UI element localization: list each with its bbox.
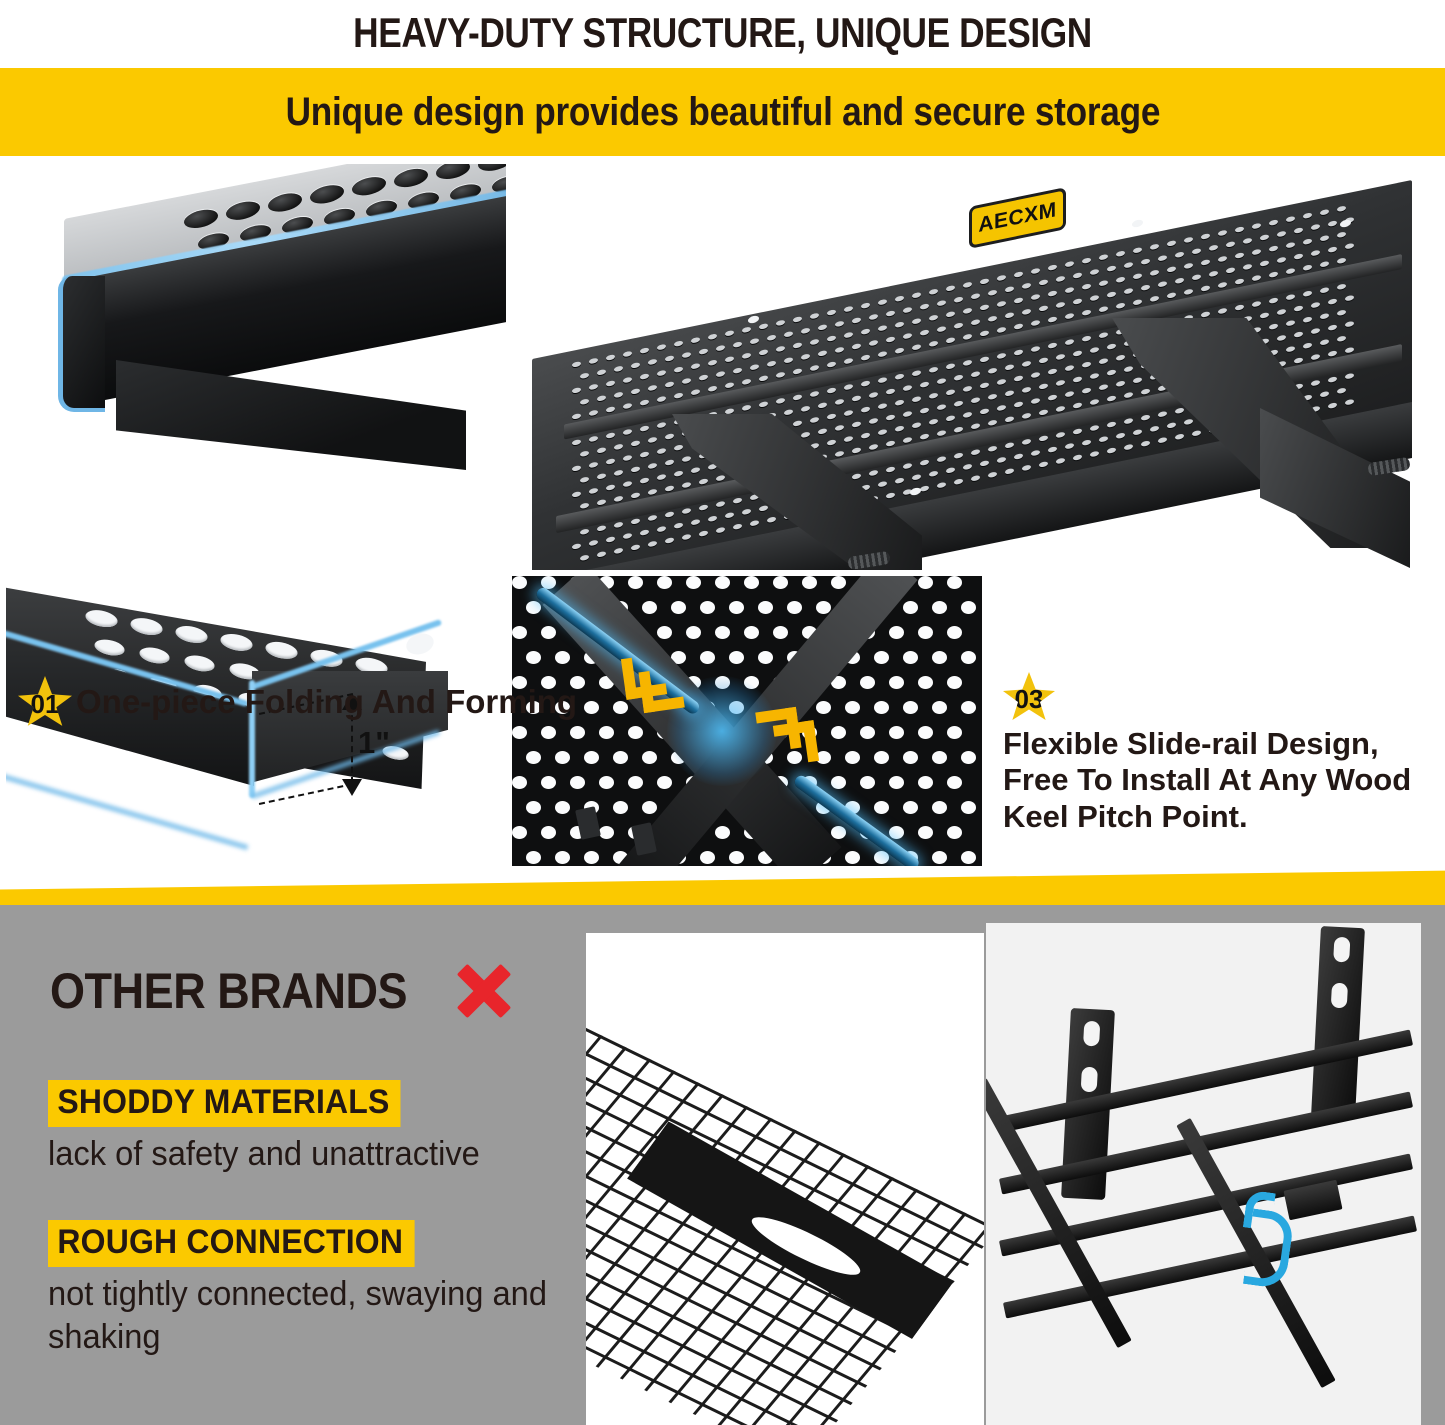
texture-dot xyxy=(903,463,912,470)
texture-dot xyxy=(665,537,674,544)
texture-dot xyxy=(1294,227,1303,234)
texture-dot xyxy=(526,801,541,814)
texture-dot xyxy=(1099,306,1108,313)
feature-callout-03: 03 Flexible Slide-rail Design, Free To I… xyxy=(1003,672,1445,835)
texture-dot xyxy=(640,477,649,484)
texture-dot xyxy=(947,826,962,839)
texture-dot xyxy=(1345,373,1354,380)
texture-dot xyxy=(1107,291,1116,298)
texture-dot xyxy=(1337,257,1346,264)
texture-dot xyxy=(845,851,860,864)
texture-dot xyxy=(759,349,768,356)
texture-dot xyxy=(767,516,776,523)
texture-dot xyxy=(861,432,870,439)
texture-dot xyxy=(1005,390,1014,397)
texture-dot xyxy=(954,400,963,407)
texture-dot xyxy=(1192,248,1201,255)
bracket-hole xyxy=(1083,1021,1100,1047)
texture-dot xyxy=(758,651,773,664)
texture-dot xyxy=(674,470,683,477)
texture-dot xyxy=(597,395,606,402)
comparison-section: OTHER BRANDS SHODDY MATERIALS lack of sa… xyxy=(0,905,1445,1425)
texture-dot xyxy=(852,395,861,402)
texture-dot xyxy=(971,475,980,482)
texture-dot xyxy=(1065,313,1074,320)
texture-dot xyxy=(1311,354,1320,361)
texture-dot xyxy=(997,456,1006,463)
texture-dot xyxy=(1014,453,1023,460)
texture-dot xyxy=(1031,346,1040,353)
texture-dot xyxy=(1320,287,1329,294)
texture-dot xyxy=(606,536,615,543)
texture-dot xyxy=(572,361,581,368)
texture-dot xyxy=(665,355,674,362)
texture-dot xyxy=(691,389,700,396)
texture-dot xyxy=(801,327,810,334)
texture-dot xyxy=(903,385,912,392)
texture-dot xyxy=(1345,347,1354,354)
texture-dot xyxy=(584,701,599,714)
texture-dot xyxy=(852,343,861,350)
texture-dot xyxy=(1056,379,1065,386)
texture-dot xyxy=(1056,275,1065,282)
texture-dot xyxy=(1243,263,1252,270)
texture-dot xyxy=(1005,416,1014,423)
texture-dot xyxy=(759,375,768,382)
texture-dot xyxy=(526,751,541,764)
texture-dot xyxy=(1184,262,1193,269)
texture-dot xyxy=(628,776,643,789)
texture-dot xyxy=(827,309,836,316)
rail-bolt-icon xyxy=(708,708,744,748)
texture-dot xyxy=(640,451,649,458)
texture-dot xyxy=(1150,243,1159,250)
texture-dot xyxy=(665,433,674,440)
texture-dot xyxy=(860,776,875,789)
texture-dot xyxy=(512,826,527,839)
texture-dot xyxy=(94,637,125,657)
rack-bracket-right xyxy=(1311,926,1365,1118)
texture-dot xyxy=(946,337,955,344)
texture-dot xyxy=(869,470,878,477)
texture-dot xyxy=(729,651,744,664)
texture-dot xyxy=(932,651,947,664)
texture-dot xyxy=(674,392,683,399)
texture-dot xyxy=(961,801,976,814)
texture-dot xyxy=(971,319,980,326)
texture-dot xyxy=(1311,380,1320,387)
texture-dot xyxy=(1133,299,1142,306)
texture-dot xyxy=(801,353,810,360)
texture-dot xyxy=(1260,234,1269,241)
texture-dot xyxy=(835,320,844,327)
texture-dot xyxy=(1022,438,1031,445)
texture-dot xyxy=(682,378,691,385)
texture-dot xyxy=(1116,302,1125,309)
con-description: lack of safety and unattractive xyxy=(48,1133,547,1176)
texture-dot xyxy=(1039,435,1048,442)
texture-dot xyxy=(184,207,218,231)
texture-dot xyxy=(961,601,976,614)
texture-dot xyxy=(852,421,861,428)
texture-dot xyxy=(1133,247,1142,254)
texture-dot xyxy=(1150,269,1159,276)
texture-dot xyxy=(1090,451,1099,458)
texture-dot xyxy=(886,414,895,421)
texture-dot xyxy=(613,701,628,714)
texture-dot xyxy=(657,474,666,481)
photo-frame-rack xyxy=(986,923,1421,1425)
texture-dot xyxy=(1014,349,1023,356)
texture-dot xyxy=(628,576,643,589)
texture-dot xyxy=(1031,398,1040,405)
edge-glow-bottom-left xyxy=(6,772,248,850)
texture-dot xyxy=(631,388,640,395)
texture-dot xyxy=(1141,284,1150,291)
texture-dot xyxy=(1167,266,1176,273)
texture-dot xyxy=(1065,261,1074,268)
texture-dot xyxy=(682,508,691,515)
texture-dot xyxy=(963,385,972,392)
texture-dot xyxy=(1124,288,1133,295)
texture-dot xyxy=(988,445,997,452)
texture-dot xyxy=(665,511,674,518)
texture-dot xyxy=(1039,461,1048,468)
texture-dot xyxy=(1116,380,1125,387)
texture-dot xyxy=(1158,255,1167,262)
texture-dot xyxy=(869,340,878,347)
texture-dot xyxy=(1345,295,1354,302)
texture-dot xyxy=(742,508,751,515)
texture-dot xyxy=(1209,270,1218,277)
texture-dot xyxy=(1158,411,1167,418)
texture-dot xyxy=(810,391,819,398)
texture-dot xyxy=(657,422,666,429)
texture-dot xyxy=(599,776,614,789)
texture-dot xyxy=(963,359,972,366)
texture-dot xyxy=(810,339,819,346)
texture-dot xyxy=(946,389,955,396)
texture-dot xyxy=(1005,468,1014,475)
texture-dot xyxy=(665,381,674,388)
texture-dot xyxy=(1048,290,1057,297)
texture-dot xyxy=(1014,401,1023,408)
texture-dot xyxy=(1056,457,1065,464)
texture-dot xyxy=(597,473,606,480)
texture-dot xyxy=(733,341,742,348)
texture-dot xyxy=(1022,412,1031,419)
texture-dot xyxy=(1201,285,1210,292)
texture-dot xyxy=(932,701,947,714)
texture-dot xyxy=(1133,273,1142,280)
texture-dot xyxy=(1328,402,1337,409)
texture-dot xyxy=(580,450,589,457)
texture-dot xyxy=(920,381,929,388)
texture-dot xyxy=(1201,311,1210,318)
texture-dot xyxy=(903,333,912,340)
texture-dot xyxy=(526,651,541,664)
texture-dot xyxy=(597,551,606,558)
texture-dot xyxy=(929,392,938,399)
texture-dot xyxy=(1090,425,1099,432)
texture-dot xyxy=(869,418,878,425)
texture-dot xyxy=(1286,268,1295,275)
texture-dot xyxy=(886,492,895,499)
texture-dot xyxy=(1005,442,1014,449)
texture-dot xyxy=(827,413,836,420)
texture-dot xyxy=(1167,240,1176,247)
texture-dot xyxy=(648,359,657,366)
texture-dot xyxy=(784,357,793,364)
texture-dot xyxy=(1243,237,1252,244)
texture-dot xyxy=(912,474,921,481)
texture-dot xyxy=(869,314,878,321)
texture-dot xyxy=(1073,272,1082,279)
texture-dot xyxy=(767,334,776,341)
texture-dot xyxy=(1303,264,1312,271)
folded-channel-end xyxy=(58,276,105,412)
texture-dot xyxy=(831,776,846,789)
texture-dot xyxy=(1311,224,1320,231)
texture-dot xyxy=(920,303,929,310)
texture-dot xyxy=(665,459,674,466)
page-title: HEAVY-DUTY STRUCTURE, UNIQUE DESIGN xyxy=(116,0,1330,66)
texture-dot xyxy=(903,801,918,814)
texture-dot xyxy=(614,495,623,502)
texture-dot xyxy=(844,332,853,339)
texture-dot xyxy=(961,851,976,864)
texture-dot xyxy=(1167,422,1176,429)
texture-dot xyxy=(691,519,700,526)
texture-dot xyxy=(980,408,989,415)
photo-one-piece-folding xyxy=(6,164,506,514)
texture-dot xyxy=(729,851,744,864)
texture-dot xyxy=(599,726,614,739)
texture-dot xyxy=(580,502,589,509)
texture-dot xyxy=(802,576,817,589)
dimension-label: 1" xyxy=(358,725,390,761)
texture-dot xyxy=(139,645,170,665)
texture-dot xyxy=(776,371,785,378)
texture-dot xyxy=(918,726,933,739)
texture-dot xyxy=(512,626,527,639)
texture-dot xyxy=(725,356,734,363)
texture-dot xyxy=(606,432,615,439)
texture-dot xyxy=(1269,297,1278,304)
texture-dot xyxy=(810,313,819,320)
texture-dot xyxy=(1260,312,1269,319)
texture-dot xyxy=(657,776,672,789)
texture-dot xyxy=(640,373,649,380)
texture-dot xyxy=(1175,251,1184,258)
texture-dot xyxy=(1039,357,1048,364)
texture-dot xyxy=(937,326,946,333)
texture-dot xyxy=(937,482,946,489)
texture-dot xyxy=(1056,301,1065,308)
texture-dot xyxy=(844,358,853,365)
texture-dot xyxy=(1328,246,1337,253)
texture-dot xyxy=(1022,308,1031,315)
texture-dot xyxy=(988,471,997,478)
texture-dot xyxy=(436,164,470,182)
texture-dot xyxy=(725,408,734,415)
texture-dot xyxy=(963,281,972,288)
texture-dot xyxy=(1269,245,1278,252)
texture-dot xyxy=(640,529,649,536)
photo-main-product: AECXM xyxy=(512,158,1445,570)
texture-dot xyxy=(733,523,742,530)
texture-dot xyxy=(835,450,844,457)
texture-dot xyxy=(642,751,657,764)
texture-dot xyxy=(1175,407,1184,414)
texture-dot xyxy=(1235,278,1244,285)
texture-dot xyxy=(1133,429,1142,436)
texture-dot xyxy=(947,726,962,739)
texture-dot xyxy=(1303,212,1312,219)
texture-dot xyxy=(946,285,955,292)
texture-dot xyxy=(912,370,921,377)
texture-dot xyxy=(572,543,581,550)
texture-dot xyxy=(963,307,972,314)
texture-dot xyxy=(674,444,683,451)
texture-dot xyxy=(1192,430,1201,437)
texture-dot xyxy=(861,302,870,309)
texture-dot xyxy=(220,632,253,654)
texture-dot xyxy=(776,345,785,352)
texture-dot xyxy=(831,576,846,589)
texture-dot xyxy=(648,437,657,444)
texture-dot xyxy=(997,404,1006,411)
texture-dot xyxy=(932,751,947,764)
texture-dot xyxy=(597,525,606,532)
texture-dot xyxy=(268,191,302,215)
texture-dot xyxy=(744,626,759,639)
texture-dot xyxy=(918,676,933,689)
texture-dot xyxy=(1328,220,1337,227)
texture-dot xyxy=(265,640,298,662)
texture-dot xyxy=(1320,261,1329,268)
texture-dot xyxy=(744,576,759,589)
texture-dot xyxy=(606,406,615,413)
texture-dot xyxy=(742,326,751,333)
texture-dot xyxy=(555,751,570,764)
texture-dot xyxy=(946,363,955,370)
texture-dot xyxy=(889,726,904,739)
feature-callout-01: 01 One-piece Folding And Forming xyxy=(18,676,577,728)
texture-dot xyxy=(988,289,997,296)
texture-dot xyxy=(1294,305,1303,312)
texture-dot xyxy=(613,751,628,764)
texture-dot xyxy=(1320,209,1329,216)
texture-dot xyxy=(932,601,947,614)
texture-dot xyxy=(1184,236,1193,243)
texture-dot xyxy=(980,330,989,337)
dimension-arrow-down-icon xyxy=(342,779,362,796)
texture-dot xyxy=(394,166,428,190)
texture-dot xyxy=(874,651,889,664)
texture-dot xyxy=(946,415,955,422)
texture-dot xyxy=(767,360,776,367)
texture-dot xyxy=(920,485,929,492)
texture-dot xyxy=(1328,376,1337,383)
texture-dot xyxy=(1073,402,1082,409)
texture-dot xyxy=(980,356,989,363)
texture-dot xyxy=(1337,387,1346,394)
texture-dot xyxy=(614,547,623,554)
texture-dot xyxy=(929,470,938,477)
texture-dot xyxy=(352,174,386,198)
texture-dot xyxy=(642,801,657,814)
con-headline: ROUGH CONNECTION xyxy=(48,1220,414,1267)
texture-dot xyxy=(648,489,657,496)
texture-dot xyxy=(818,428,827,435)
texture-dot xyxy=(886,310,895,317)
texture-dot xyxy=(682,482,691,489)
texture-dot xyxy=(1031,268,1040,275)
texture-dot xyxy=(589,488,598,495)
texture-dot xyxy=(1260,260,1269,267)
texture-dot xyxy=(584,751,599,764)
texture-dot xyxy=(889,626,904,639)
texture-dot xyxy=(903,307,912,314)
texture-dot xyxy=(886,466,895,473)
con-item-2: ROUGH CONNECTION not tightly connected, … xyxy=(48,1220,578,1358)
texture-dot xyxy=(932,851,947,864)
feature-label: One-piece Folding And Forming xyxy=(76,683,577,721)
texture-dot xyxy=(895,399,904,406)
texture-dot xyxy=(1286,346,1295,353)
texture-dot xyxy=(920,459,929,466)
texture-dot xyxy=(715,826,730,839)
texture-dot xyxy=(1065,287,1074,294)
texture-dot xyxy=(861,380,870,387)
texture-dot xyxy=(716,501,725,508)
texture-dot xyxy=(852,473,861,480)
texture-dot xyxy=(980,278,989,285)
texture-dot xyxy=(929,366,938,373)
product-infographic: HEAVY-DUTY STRUCTURE, UNIQUE DESIGN Uniq… xyxy=(0,0,1445,1425)
texture-dot xyxy=(793,368,802,375)
texture-dot xyxy=(1048,342,1057,349)
texture-dot xyxy=(816,601,831,614)
texture-dot xyxy=(1048,394,1057,401)
texture-dot xyxy=(512,776,527,789)
texture-dot xyxy=(699,348,708,355)
texture-dot xyxy=(631,440,640,447)
texture-dot xyxy=(1277,231,1286,238)
texture-dot xyxy=(1337,283,1346,290)
texture-dot xyxy=(1286,242,1295,249)
texture-dot xyxy=(878,403,887,410)
texture-dot xyxy=(555,801,570,814)
texture-dot xyxy=(580,398,589,405)
bracket-hole xyxy=(1333,937,1350,963)
texture-dot xyxy=(648,515,657,522)
texture-dot xyxy=(844,384,853,391)
texture-dot xyxy=(1065,391,1074,398)
texture-dot xyxy=(963,463,972,470)
texture-dot xyxy=(947,626,962,639)
texture-dot xyxy=(1090,347,1099,354)
texture-dot xyxy=(1235,304,1244,311)
texture-dot xyxy=(716,371,725,378)
texture-dot xyxy=(997,378,1006,385)
texture-dot xyxy=(1022,282,1031,289)
texture-dot xyxy=(1090,399,1099,406)
texture-dot xyxy=(946,467,955,474)
texture-dot xyxy=(580,476,589,483)
texture-dot xyxy=(1252,301,1261,308)
